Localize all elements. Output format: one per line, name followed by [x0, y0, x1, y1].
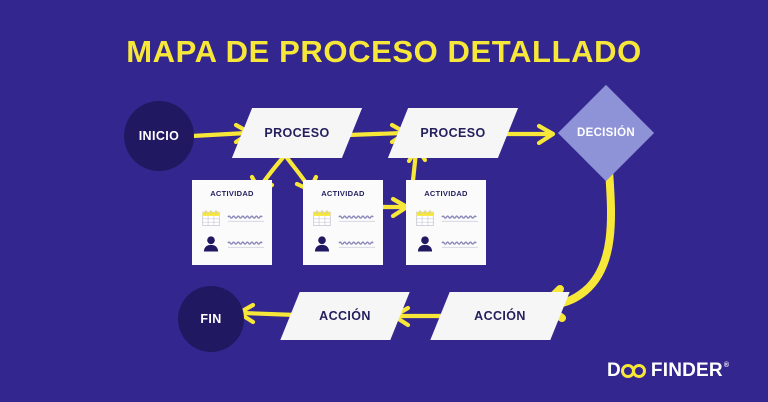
placeholder-text-line	[441, 240, 479, 249]
person-icon	[201, 234, 221, 254]
node-accion-1[interactable]	[280, 292, 409, 340]
node-inicio[interactable]	[124, 101, 194, 171]
node-accion-2[interactable]	[430, 292, 569, 340]
node-actividad-1[interactable]: ACTIVIDAD	[192, 180, 272, 265]
node-actividad-3[interactable]: ACTIVIDAD	[406, 180, 486, 265]
placeholder-text-line	[338, 240, 376, 249]
logo-prefix: D	[607, 360, 621, 382]
placeholder-text-line	[338, 214, 376, 223]
node-proceso-2[interactable]	[388, 108, 518, 158]
node-actividad-3-label: ACTIVIDAD	[406, 189, 486, 198]
node-proceso-1[interactable]	[232, 108, 362, 158]
node-decision[interactable]	[558, 85, 654, 181]
placeholder-text-line	[441, 214, 479, 223]
infinity-oo-icon	[621, 361, 651, 381]
person-icon	[312, 234, 332, 254]
node-actividad-1-label: ACTIVIDAD	[192, 189, 272, 198]
placeholder-text-line	[227, 214, 265, 223]
calendar-icon	[312, 208, 332, 228]
calendar-icon	[201, 208, 221, 228]
placeholder-text-line	[227, 240, 265, 249]
actividad-1-row-calendar	[201, 208, 265, 230]
actividad-1-row-person	[201, 234, 265, 256]
actividad-2-row-person	[312, 234, 376, 256]
node-actividad-2[interactable]: ACTIVIDAD	[303, 180, 383, 265]
calendar-icon	[415, 208, 435, 228]
infographic-canvas: MAPA DE PROCESO DETALLADO .ar { fill: no…	[0, 0, 768, 402]
person-icon	[415, 234, 435, 254]
node-actividad-2-label: ACTIVIDAD	[303, 189, 383, 198]
doofinder-logo[interactable]: D FINDER ®	[607, 360, 729, 382]
actividad-2-row-calendar	[312, 208, 376, 230]
page-title: MAPA DE PROCESO DETALLADO	[0, 34, 768, 70]
registered-mark: ®	[724, 362, 729, 369]
actividad-3-row-person	[415, 234, 479, 256]
logo-suffix: FINDER	[651, 360, 723, 382]
node-fin[interactable]	[178, 286, 244, 352]
actividad-3-row-calendar	[415, 208, 479, 230]
